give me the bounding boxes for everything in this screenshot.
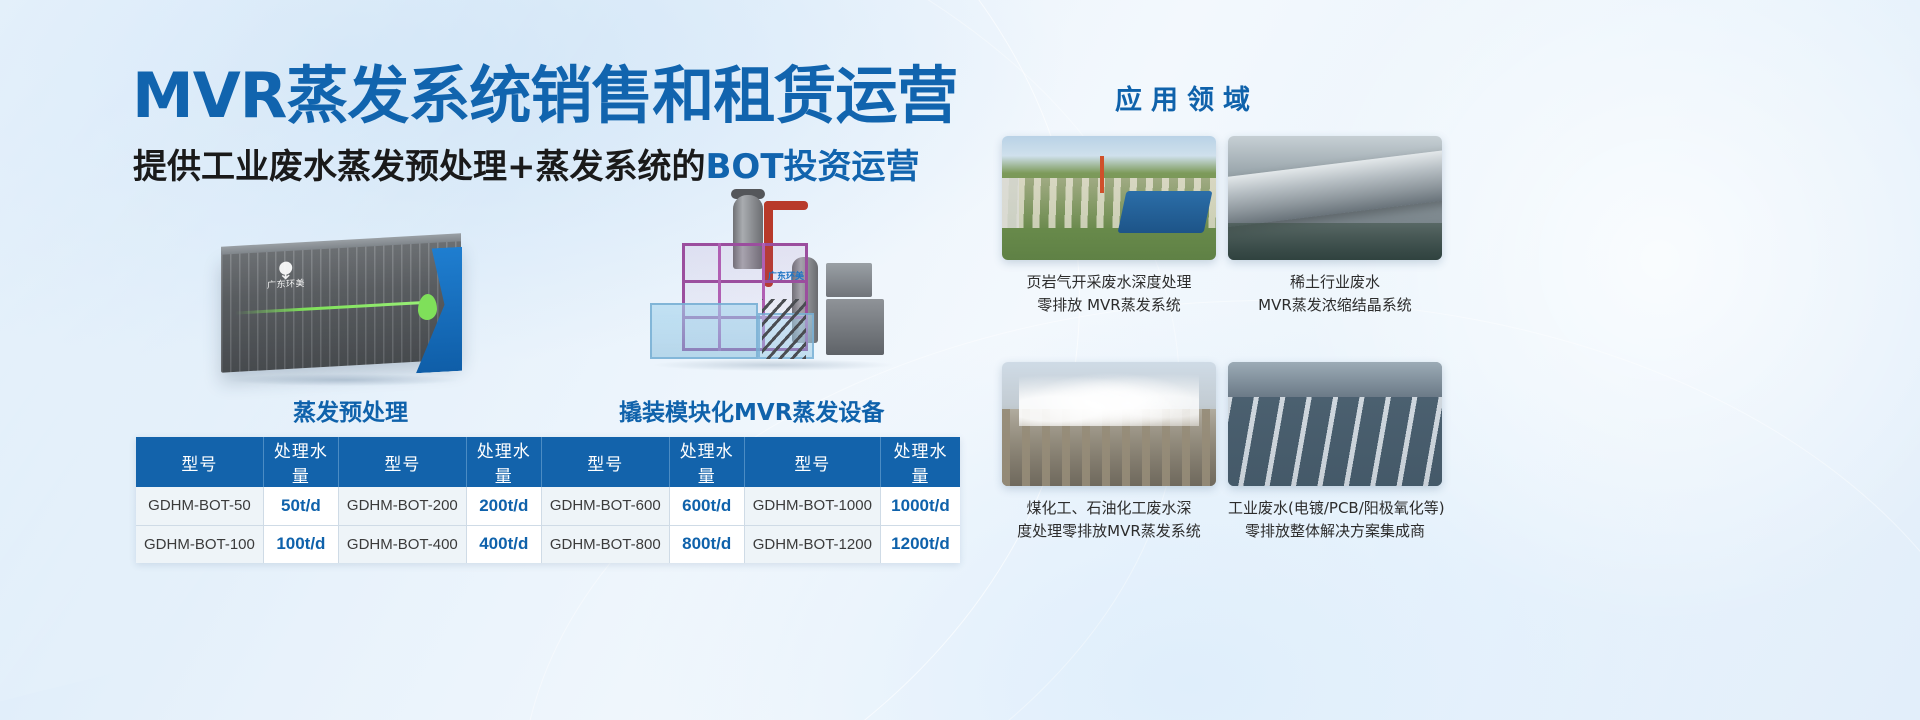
application-card-caption: 煤化工、石油化工废水深 度处理零排放MVR蒸发系统: [1002, 497, 1216, 544]
caption-line: 工业废水(电镀/PCB/阳极氧化等): [1228, 497, 1442, 520]
subtitle-text: 提供工业废水蒸发预处理+蒸发系统的: [133, 147, 706, 187]
product-caption-pretreatment: 蒸发预处理: [293, 393, 408, 427]
application-card-coal-chemical: 煤化工、石油化工废水深 度处理零排放MVR蒸发系统: [1002, 362, 1216, 544]
industrial-wastewater-tanks-photo: [1228, 362, 1442, 486]
skid-equipment-box-upper: [826, 263, 872, 297]
subtitle-highlight: BOT投资运营: [706, 147, 920, 187]
caption-line: 零排放 MVR蒸发系统: [1002, 294, 1216, 317]
table-cell-model: GDHM-BOT-200: [338, 487, 466, 525]
table-cell-capacity: 800t/d: [669, 525, 744, 563]
table-row: GDHM-BOT-100 100t/d GDHM-BOT-400 400t/d …: [136, 525, 960, 563]
skid-stairway: [762, 299, 806, 359]
drilling-rig-icon: [1100, 156, 1104, 193]
table-cell-model: GDHM-BOT-800: [541, 525, 669, 563]
table-header-row: 型号 处理水量 型号 处理水量 型号 处理水量 型号 处理水量: [136, 437, 960, 487]
page-subtitle: 提供工业废水蒸发预处理+蒸发系统的BOT投资运营: [133, 148, 920, 187]
table-header-cell: 型号: [338, 437, 466, 487]
table-header-cell: 型号: [541, 437, 669, 487]
table-cell-capacity: 200t/d: [466, 487, 541, 525]
table-cell-model: GDHM-BOT-1200: [744, 525, 880, 563]
table-cell-capacity: 600t/d: [669, 487, 744, 525]
application-fields-column: 应用领域 页岩气开采废水深度处理 零排放 MVR蒸发系统 稀土行业废水 MVR蒸…: [985, 0, 1920, 720]
shale-gas-field-aerial-photo: [1002, 136, 1216, 260]
caption-line: 煤化工、石油化工废水深: [1002, 497, 1216, 520]
caption-line: 零排放整体解决方案集成商: [1228, 520, 1442, 543]
skid-brand-label: 广东环美: [768, 269, 804, 282]
table-header-cell: 处理水量: [263, 437, 338, 487]
table-cell-model: GDHM-BOT-400: [338, 525, 466, 563]
skid-clarifier-tank: [650, 303, 758, 359]
table-cell-capacity: 1000t/d: [880, 487, 960, 525]
caption-line: 度处理零排放MVR蒸发系统: [1002, 520, 1216, 543]
container-shadow: [231, 374, 457, 386]
skid-equipment-box-lower: [826, 299, 884, 355]
table-cell-model: GDHM-BOT-1000: [744, 487, 880, 525]
application-card-caption: 工业废水(电镀/PCB/阳极氧化等) 零排放整体解决方案集成商: [1228, 497, 1442, 544]
table-header-cell: 处理水量: [669, 437, 744, 487]
table-header-cell: 型号: [136, 437, 263, 487]
table-cell-model: GDHM-BOT-600: [541, 487, 669, 525]
application-card-rare-earth: 稀土行业废水 MVR蒸发浓缩结晶系统: [1228, 136, 1442, 318]
coal-chemical-cooling-towers-photo: [1002, 362, 1216, 486]
application-card-shale-gas: 页岩气开采废水深度处理 零排放 MVR蒸发系统: [1002, 136, 1216, 318]
container-brand-logo: ⧭ 广东环美: [267, 259, 305, 291]
specification-table: 型号 处理水量 型号 处理水量 型号 处理水量 型号 处理水量 GDHM-BOT…: [136, 437, 960, 563]
applications-section-title: 应用领域: [1115, 78, 1259, 117]
table-cell-model: GDHM-BOT-50: [136, 487, 263, 525]
table-cell-capacity: 50t/d: [263, 487, 338, 525]
caption-line: MVR蒸发浓缩结晶系统: [1228, 294, 1442, 317]
application-card-caption: 页岩气开采废水深度处理 零排放 MVR蒸发系统: [1002, 271, 1216, 318]
evaporation-pretreatment-unit-image: ⧭ 广东环美: [205, 232, 470, 382]
table-row: GDHM-BOT-50 50t/d GDHM-BOT-200 200t/d GD…: [136, 487, 960, 525]
table-cell-capacity: 1200t/d: [880, 525, 960, 563]
table-header-cell: 处理水量: [880, 437, 960, 487]
container-green-droplet-icon: [418, 293, 437, 320]
table-header-cell: 型号: [744, 437, 880, 487]
modular-mvr-evaporator-image: 广东环美: [640, 195, 930, 395]
application-card-industrial-wastewater: 工业废水(电镀/PCB/阳极氧化等) 零排放整体解决方案集成商: [1228, 362, 1442, 544]
product-caption-skid: 撬装模块化MVR蒸发设备: [619, 393, 884, 427]
table-cell-capacity: 400t/d: [466, 525, 541, 563]
caption-line: 稀土行业废水: [1228, 271, 1442, 294]
table-cell-capacity: 100t/d: [263, 525, 338, 563]
page-title: MVR蒸发系统销售和租赁运营: [132, 64, 957, 127]
skid-shadow: [654, 359, 892, 371]
promotional-banner: MVR蒸发系统销售和租赁运营 提供工业废水蒸发预处理+蒸发系统的BOT投资运营 …: [0, 0, 1920, 720]
table-header-cell: 处理水量: [466, 437, 541, 487]
brand-mark-glyph: ⧭: [267, 259, 305, 278]
caption-line: 页岩气开采废水深度处理: [1002, 271, 1216, 294]
left-content-column: MVR蒸发系统销售和租赁运营 提供工业废水蒸发预处理+蒸发系统的BOT投资运营 …: [0, 0, 980, 720]
brand-mark-text: 广东环美: [267, 276, 305, 291]
table-cell-model: GDHM-BOT-100: [136, 525, 263, 563]
application-card-caption: 稀土行业废水 MVR蒸发浓缩结晶系统: [1228, 271, 1442, 318]
rare-earth-plant-pipe-photo: [1228, 136, 1442, 260]
